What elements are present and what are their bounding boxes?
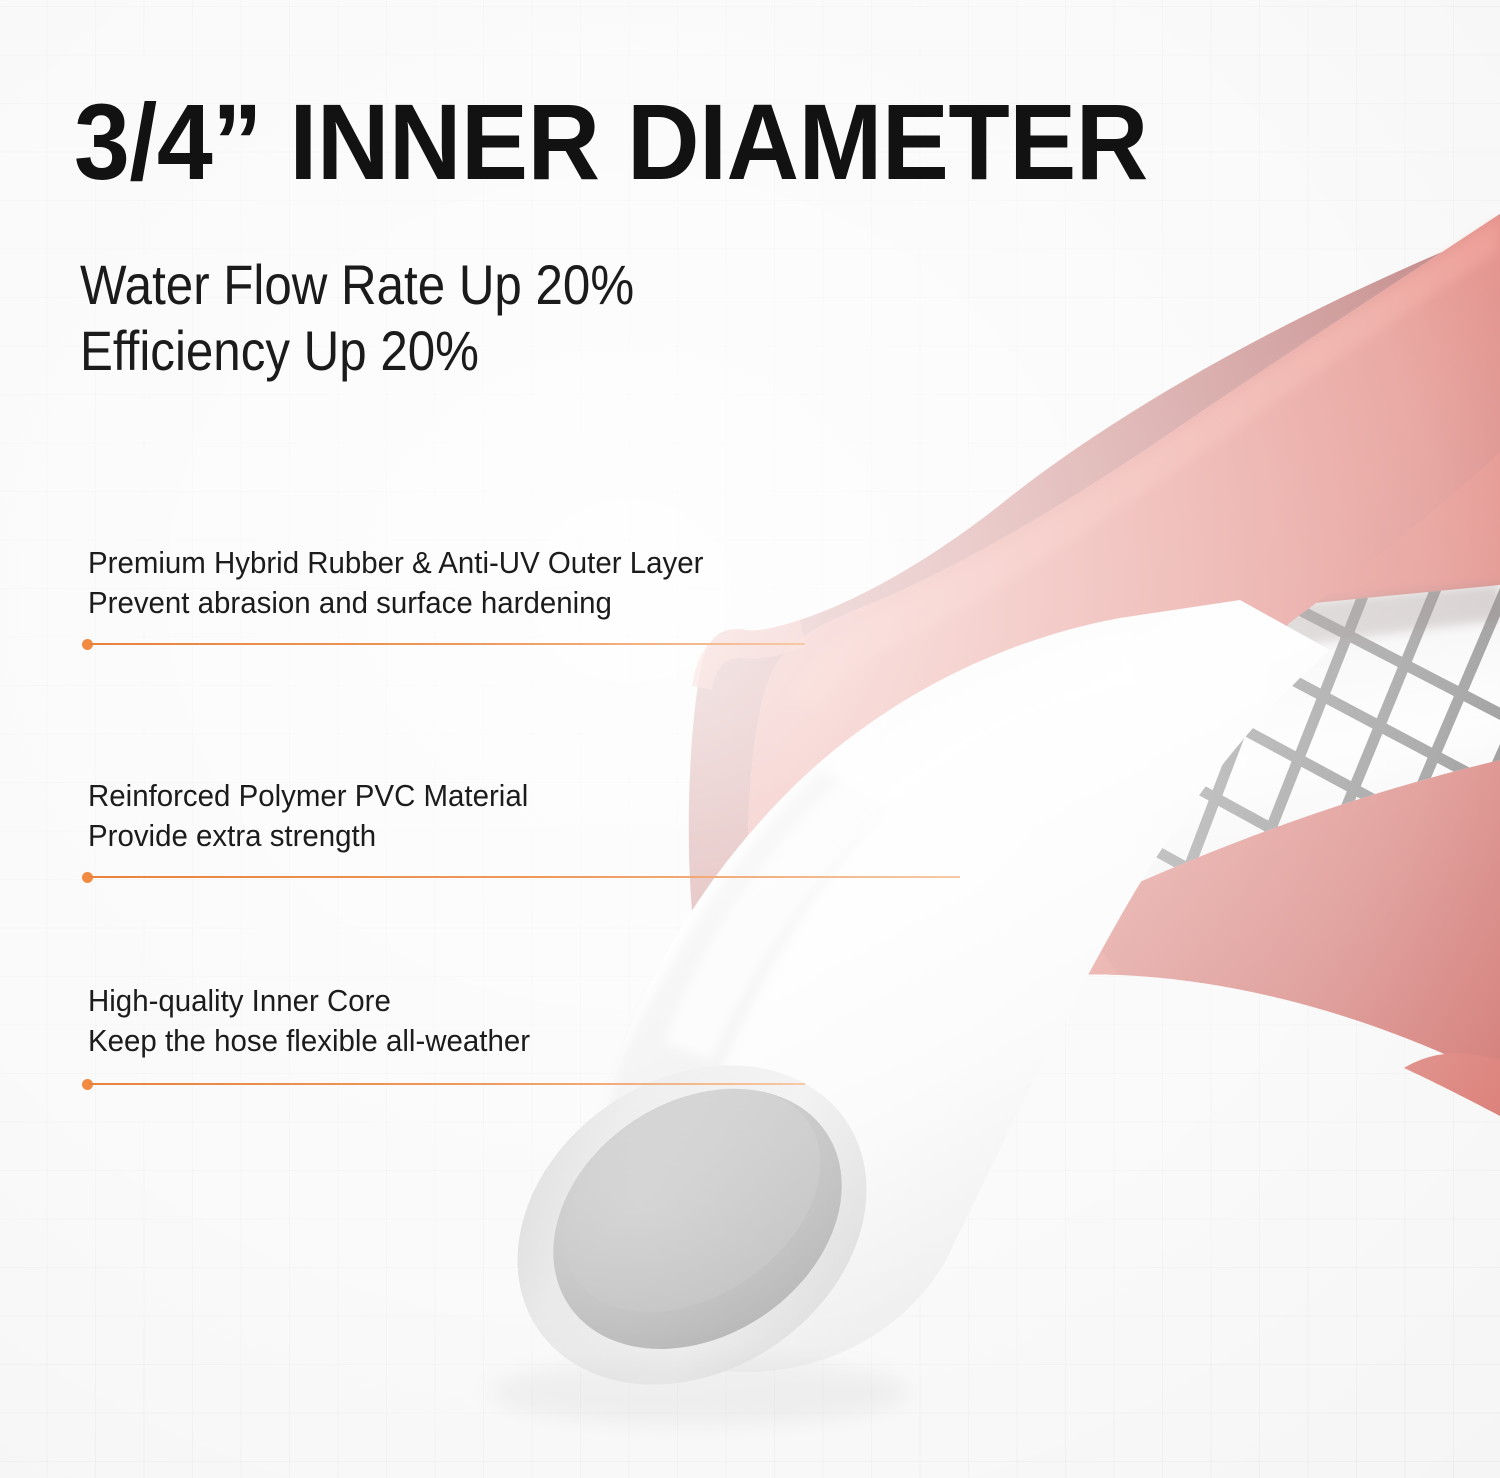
callout-1-title: Premium Hybrid Rubber & Anti-UV Outer La… (88, 543, 703, 583)
callout-3-leader-line (89, 1083, 805, 1085)
subtitle-line-2: Efficiency Up 20% (80, 318, 634, 384)
callout-1-leader-line (89, 643, 805, 645)
callout-2-subtitle: Provide extra strength (88, 816, 528, 856)
hose-end-shadow (490, 1358, 910, 1426)
subtitle-line-1: Water Flow Rate Up 20% (80, 252, 634, 318)
callout-pvc-material: Reinforced Polymer PVC Material Provide … (88, 776, 551, 855)
callout-2-leader-line (89, 876, 960, 878)
page-title: 3/4” INNER DIAMETER (74, 88, 1148, 196)
red-sliver-right (1404, 1053, 1500, 1116)
callout-1-subtitle: Prevent abrasion and surface hardening (88, 583, 703, 623)
hose-cutaway-illustration (0, 0, 1500, 1478)
callout-3-title: High-quality Inner Core (88, 981, 530, 1021)
subtitle-block: Water Flow Rate Up 20% Efficiency Up 20% (80, 252, 634, 383)
callout-2-title: Reinforced Polymer PVC Material (88, 776, 528, 816)
callout-inner-core: High-quality Inner Core Keep the hose fl… (88, 981, 553, 1060)
callout-3-subtitle: Keep the hose flexible all-weather (88, 1021, 530, 1061)
callout-outer-layer: Premium Hybrid Rubber & Anti-UV Outer La… (88, 543, 736, 622)
